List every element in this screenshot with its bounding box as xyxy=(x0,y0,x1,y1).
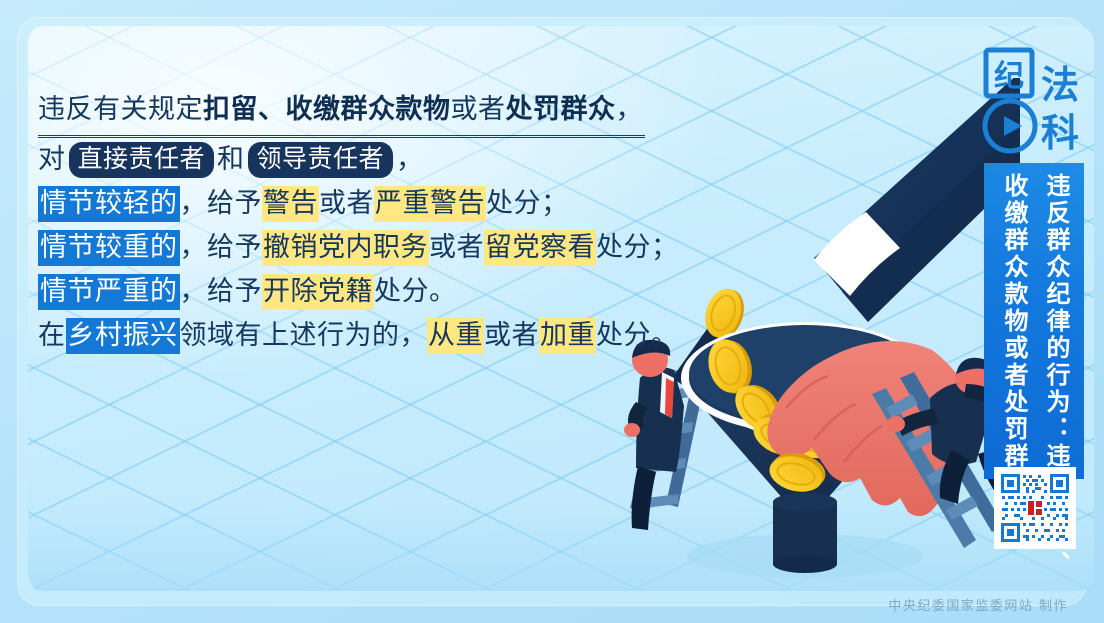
line5-suffix: 处分。 xyxy=(374,276,457,307)
line2-comma: ， xyxy=(396,144,424,175)
line4-mid: 给予 xyxy=(207,232,262,263)
penalty-warning: 警告 xyxy=(262,186,319,222)
qr-code[interactable] xyxy=(994,467,1076,549)
line1-bold-a: 扣留、收缴群众款物 xyxy=(203,94,451,125)
penalty-probation: 留党察看 xyxy=(484,230,596,266)
tag-grave-circumstances: 情节严重的 xyxy=(38,274,180,310)
line6-prefix: 在 xyxy=(38,320,66,351)
tag-rural-revitalization: 乡村振兴 xyxy=(66,318,180,354)
line1-bold-b: 处罚群众 xyxy=(506,94,616,125)
line4-conj: 或者 xyxy=(429,232,484,263)
tag-serious-circumstances: 情节较重的 xyxy=(38,230,180,266)
play-triangle-icon xyxy=(1004,116,1022,136)
line1-plain-a: 违反有关规定 xyxy=(38,94,203,125)
banner-column-right: 违反群众纪律的行为：违规扣留、 xyxy=(1036,173,1076,471)
penalty-serious-warning: 严重警告 xyxy=(374,186,486,222)
line5-mid: 给予 xyxy=(207,276,262,307)
logo-char-ji: 纪 xyxy=(994,59,1024,94)
vertical-title-banner: 违反群众纪律的行为：违规扣留、 收缴群众款物或者处罚群众 xyxy=(984,163,1084,479)
line1-comma: ， xyxy=(616,94,644,125)
credit-line: 中央纪委国家监委网站 制作 xyxy=(888,595,1068,614)
text-line-5: 情节严重的，给予开除党籍处分。 xyxy=(38,270,678,314)
text-line-2: 对直接责任者和领导责任者， xyxy=(38,138,678,182)
body-text-block: 违反有关规定扣留、收缴群众款物或者处罚群众， 对直接责任者和领导责任者， 情节较… xyxy=(38,88,678,358)
brand-logo-jifa-baike[interactable]: 纪 法 科 xyxy=(982,46,1086,158)
text-line-6: 在乡村振兴领域有上述行为的，从重或者加重处分。 xyxy=(38,314,678,358)
line4-suffix: 处分； xyxy=(596,232,679,263)
line3-conj: 或者 xyxy=(319,188,374,219)
poster-canvas: 违反有关规定扣留、收缴群众款物或者处罚群众， 对直接责任者和领导责任者， 情节较… xyxy=(0,0,1104,623)
text-line-4: 情节较重的，给予撤销党内职务或者留党察看处分； xyxy=(38,226,678,270)
logo-char-fa: 法 xyxy=(1041,63,1079,107)
banner-column-left: 收缴群众款物或者处罚群众 xyxy=(994,173,1034,471)
penalty-remove-party-post: 撤销党内职务 xyxy=(262,230,429,266)
line4-comma: ， xyxy=(180,232,208,263)
penalty-aggravated: 加重 xyxy=(539,318,596,354)
badge-leadership-responsible: 领导责任者 xyxy=(248,142,394,178)
line2-conj: 和 xyxy=(217,144,245,175)
penalty-expulsion: 开除党籍 xyxy=(262,274,374,310)
line1-plain-b: 或者 xyxy=(451,94,506,125)
line6-suffix: 处分。 xyxy=(596,320,679,351)
line6-mid: 领域有上述行为的， xyxy=(180,320,428,351)
line3-comma: ， xyxy=(180,188,208,219)
text-line-1: 违反有关规定扣留、收缴群众款物或者处罚群众， xyxy=(38,88,678,138)
line5-comma: ， xyxy=(180,276,208,307)
text-line-3: 情节较轻的，给予警告或者严重警告处分； xyxy=(38,182,678,226)
badge-direct-responsible: 直接责任者 xyxy=(69,142,215,178)
line2-prefix: 对 xyxy=(38,144,66,175)
text-line-1-underlined: 违反有关规定扣留、收缴群众款物或者处罚群众， xyxy=(38,88,645,138)
tag-minor-circumstances: 情节较轻的 xyxy=(38,186,180,222)
line3-suffix: 处分； xyxy=(486,188,569,219)
line3-mid: 给予 xyxy=(207,188,262,219)
line6-conj: 或者 xyxy=(484,320,539,351)
logo-char-ke: 科 xyxy=(1041,111,1079,155)
penalty-heavier: 从重 xyxy=(427,318,484,354)
